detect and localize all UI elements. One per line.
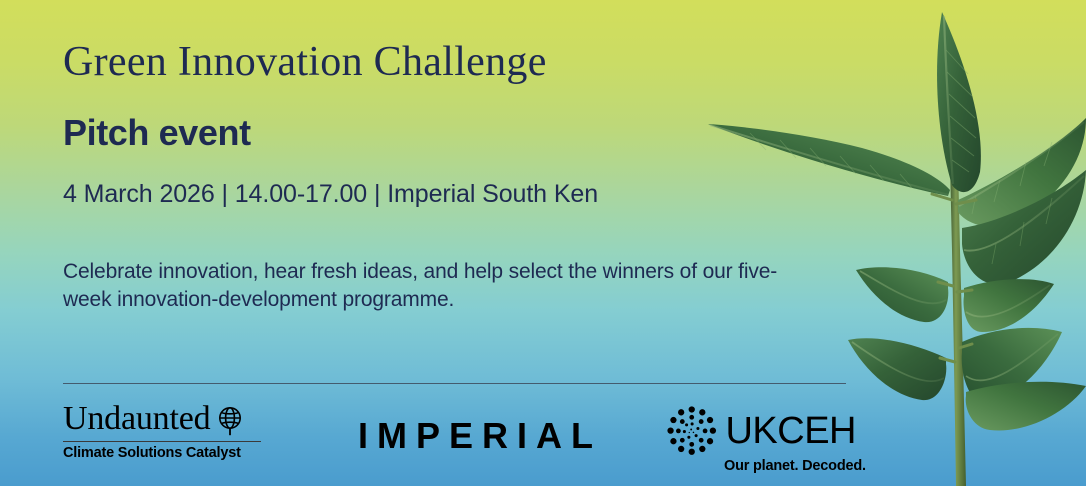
undaunted-wordmark: Undaunted xyxy=(63,402,210,436)
spiral-dots-icon xyxy=(666,404,717,458)
partner-logo-row: Undaunted Climate Solutions Catalyst xyxy=(63,398,863,478)
event-details: 4 March 2026 | 14.00-17.00 | Imperial So… xyxy=(63,180,598,209)
undaunted-tagline: Climate Solutions Catalyst xyxy=(63,446,268,462)
section-divider xyxy=(63,383,846,384)
logo-ukceh[interactable]: UKCEH Our planet. Decoded. xyxy=(666,404,856,475)
banner-content: Green Innovation Challenge Pitch event 4… xyxy=(63,0,863,486)
ukceh-tagline: Our planet. Decoded. xyxy=(724,459,856,475)
undaunted-rule xyxy=(63,441,261,442)
undaunted-wordmark-row: Undaunted xyxy=(63,402,268,436)
event-description: Celebrate innovation, hear fresh ideas, … xyxy=(63,258,783,313)
ukceh-wordmark-row: UKCEH xyxy=(666,404,856,458)
event-banner: Green Innovation Challenge Pitch event 4… xyxy=(0,0,1086,486)
ukceh-wordmark: UKCEH xyxy=(725,412,856,450)
logo-imperial[interactable]: IMPERIAL xyxy=(358,418,602,454)
globe-icon xyxy=(217,406,243,436)
page-title: Green Innovation Challenge xyxy=(63,38,547,86)
event-subtitle: Pitch event xyxy=(63,112,251,154)
logo-undaunted[interactable]: Undaunted Climate Solutions Catalyst xyxy=(63,402,268,462)
